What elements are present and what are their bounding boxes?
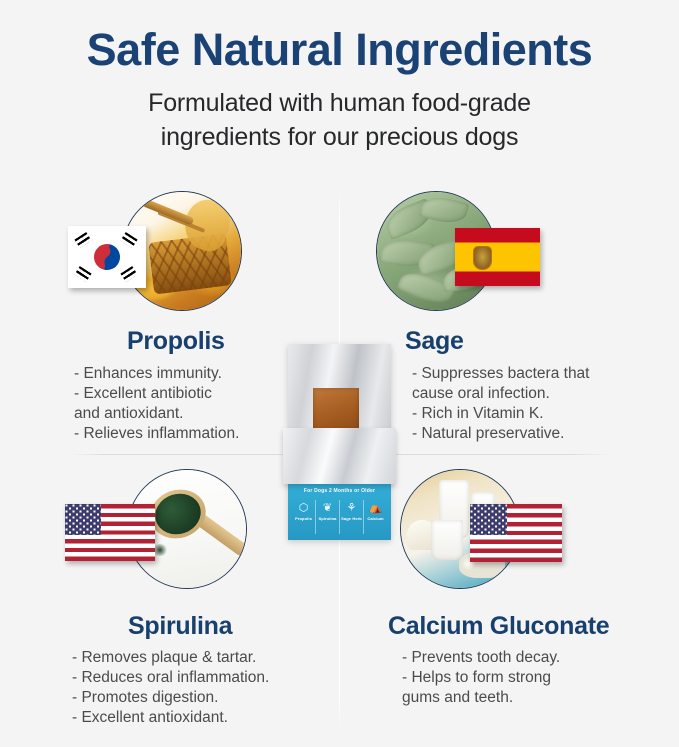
trigram-icon [120, 232, 137, 248]
package-foil-front [283, 428, 396, 484]
package-icon-propolis: ⬡ Propolis [292, 500, 316, 534]
ingredient-benefits-sage: - Suppresses bactera that cause oral inf… [412, 364, 672, 445]
flag-canton [470, 504, 507, 535]
ingredient-benefits-spirulina: - Removes plaque & tartar. - Reduces ora… [72, 648, 337, 729]
subtitle-line-2: ingredients for our precious dogs [0, 119, 679, 153]
ingredient-name-calcium-gluconate: Calcium Gluconate [388, 612, 609, 641]
taeguk-symbol [89, 239, 125, 275]
flag-stars [65, 504, 101, 535]
package-icon-sage: ⚘ Sage Herb [340, 500, 364, 534]
calcium-bottle-icon: ⛺ [364, 500, 387, 516]
dental-care-strip [313, 388, 359, 432]
package-ingredient-icons: ⬡ Propolis ❦ Spirulina ⚘ Sage Herb ⛺ Cal… [292, 500, 387, 534]
ingredient-name-propolis: Propolis [127, 327, 225, 356]
trigram-icon [120, 266, 137, 282]
package-icon-label: Propolis [292, 516, 315, 521]
milk-glass-shape [431, 520, 463, 560]
spain-flag [455, 228, 540, 286]
package-icon-spirulina: ❦ Spirulina [316, 500, 340, 534]
flag-canton [65, 504, 101, 535]
package-icon-label: Spirulina [316, 516, 339, 521]
united-states-flag [470, 504, 562, 562]
page-title: Safe Natural Ingredients [0, 0, 679, 73]
trigram-icon [74, 232, 91, 248]
ingredient-name-spirulina: Spirulina [128, 612, 232, 641]
subtitle-line-1: Formulated with human food-grade [0, 73, 679, 119]
package-icon-label: Calcium [364, 516, 387, 521]
header: Safe Natural Ingredients Formulated with… [0, 0, 679, 153]
spirulina-leaf-icon: ❦ [316, 500, 339, 516]
south-korea-flag [68, 226, 146, 288]
package-tagline: For Dogs 2 Months or Older [288, 488, 391, 494]
product-package: CARE STRIP For Dogs 2 Months or Older ⬡ … [283, 344, 396, 543]
ingredients-infographic: Safe Natural Ingredients Formulated with… [0, 0, 679, 747]
spain-coat-of-arms-icon [474, 247, 491, 269]
package-icon-label: Sage Herb [340, 516, 363, 521]
trigram-icon [74, 266, 91, 282]
ingredient-benefits-calcium-gluconate: - Prevents tooth decay. - Helps to form … [402, 648, 672, 708]
propolis-hexagon-icon: ⬡ [292, 500, 315, 516]
united-states-flag [65, 504, 155, 561]
ingredient-name-sage: Sage [405, 327, 464, 356]
flag-stars [470, 504, 507, 535]
sage-herb-icon: ⚘ [340, 500, 363, 516]
package-icon-calcium: ⛺ Calcium [364, 500, 387, 534]
